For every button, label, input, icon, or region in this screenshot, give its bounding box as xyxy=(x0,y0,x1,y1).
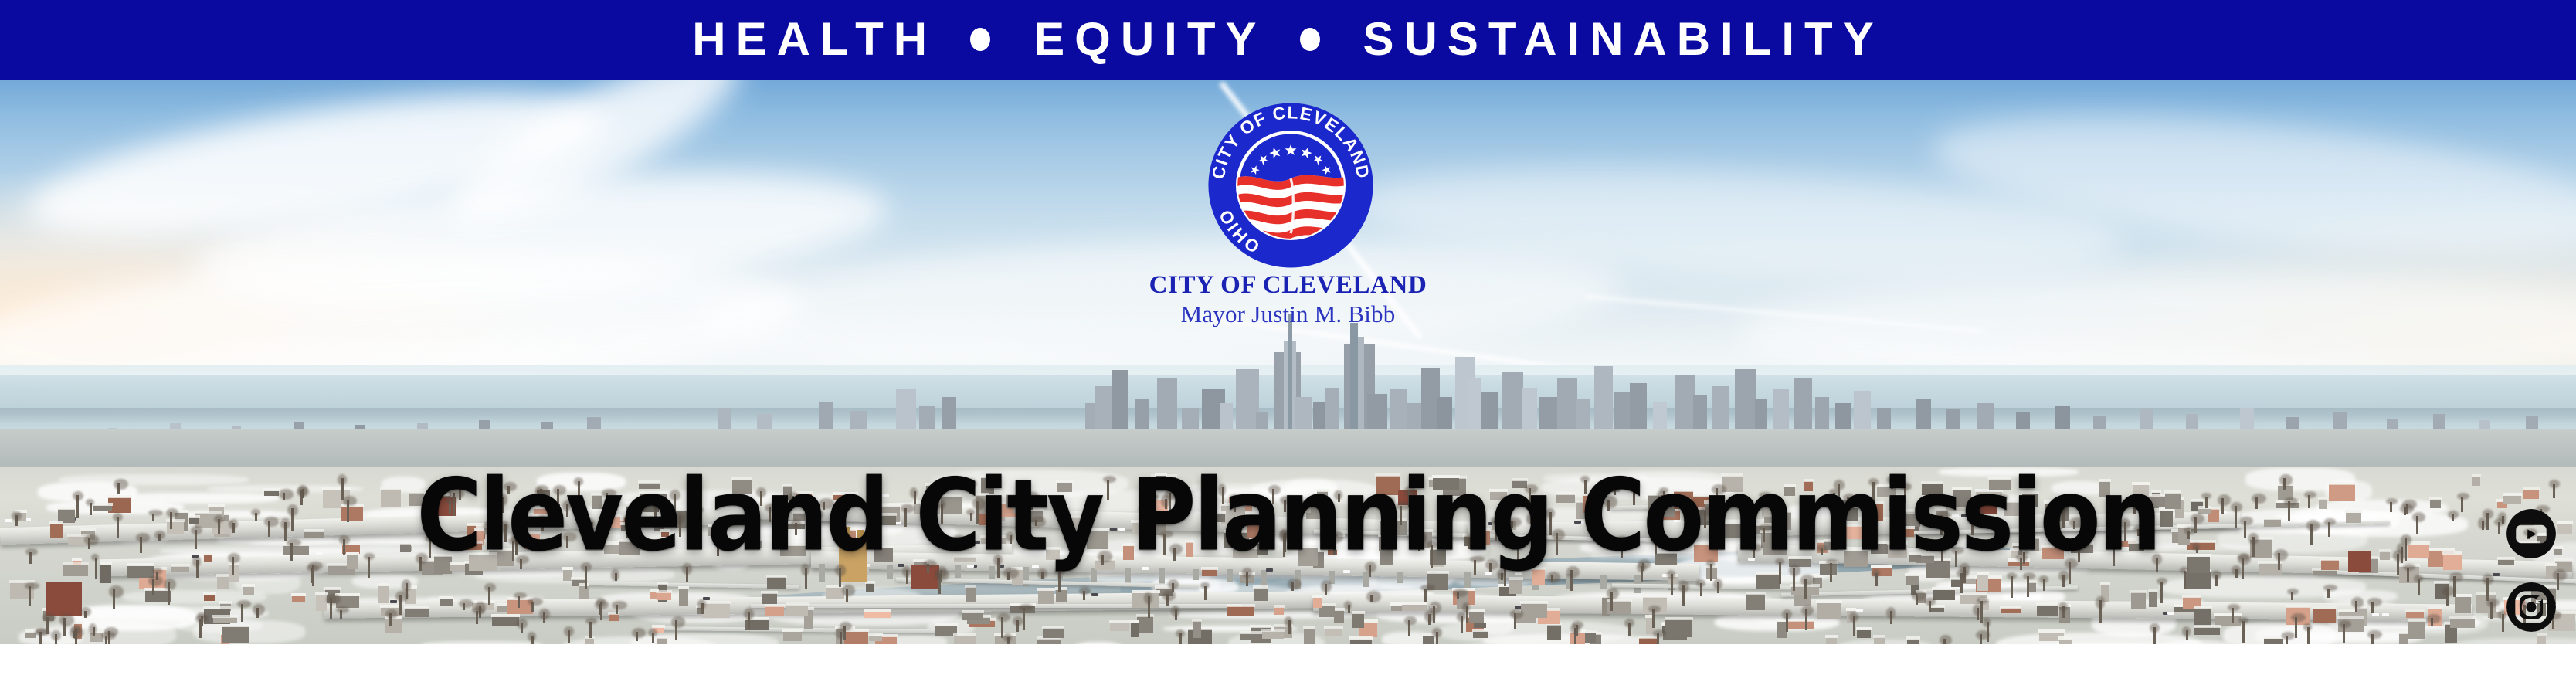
bare-tree-canopy xyxy=(1653,629,1667,637)
bare-tree-canopy xyxy=(1801,606,1814,616)
bare-tree-canopy xyxy=(1168,579,1179,589)
terminal-tower-spire xyxy=(1288,314,1292,443)
brick-building xyxy=(46,582,82,616)
bare-tree-canopy xyxy=(197,612,206,620)
bare-tree-canopy xyxy=(2096,596,2104,608)
building xyxy=(1254,588,1268,600)
snow-roof xyxy=(1253,585,1268,589)
bare-tree xyxy=(2011,576,2013,599)
snow-roof xyxy=(2148,589,2159,592)
snow-roof xyxy=(962,610,984,613)
bare-tree-canopy xyxy=(2150,623,2159,633)
building xyxy=(1639,638,1659,644)
building xyxy=(869,636,882,641)
snow-roof xyxy=(1520,601,1548,604)
snow-roof xyxy=(2194,625,2221,628)
snow-roof xyxy=(2428,606,2444,609)
bare-tree-canopy xyxy=(1572,621,1583,629)
bare-tree-canopy xyxy=(1624,619,1634,628)
building xyxy=(786,605,808,616)
bare-tree-canopy xyxy=(1162,590,1176,601)
snow-roof xyxy=(1042,626,1064,629)
bare-tree-canopy xyxy=(1912,591,1926,600)
bare-tree-canopy xyxy=(1849,612,1859,622)
bare-tree-canopy xyxy=(148,575,163,586)
bare-tree-canopy xyxy=(25,582,39,589)
snow-roof xyxy=(2182,595,2201,598)
snow-patch xyxy=(1996,633,2202,644)
city-of-cleveland-seal-icon: CITY OF CLEVELAND OHIO xyxy=(1205,100,1376,271)
building xyxy=(385,618,402,633)
building xyxy=(1906,575,1919,585)
building xyxy=(2131,592,2146,609)
building xyxy=(1423,636,1434,644)
vehicle xyxy=(2167,612,2174,615)
building xyxy=(1193,621,1201,639)
snow-roof xyxy=(1665,617,1693,620)
building xyxy=(657,638,667,644)
snow-roof xyxy=(1324,626,1343,629)
bare-tree-canopy xyxy=(2427,614,2441,623)
snow-roof xyxy=(2337,616,2364,619)
building xyxy=(962,612,983,621)
bare-tree-canopy xyxy=(2228,604,2239,611)
building xyxy=(2406,612,2424,618)
bare-tree-canopy xyxy=(1176,629,1185,637)
building xyxy=(1474,623,1486,628)
snow-roof xyxy=(1055,587,1067,590)
city-seal: CITY OF CLEVELAND OHIO xyxy=(1194,100,1387,291)
snow-roof xyxy=(652,625,665,628)
bare-tree-canopy xyxy=(517,619,527,629)
bare-tree-canopy xyxy=(1171,606,1179,616)
building xyxy=(767,577,787,589)
snow-roof xyxy=(935,623,957,626)
snow-roof xyxy=(2000,606,2021,609)
building xyxy=(1334,610,1344,622)
building xyxy=(1826,637,1837,644)
building xyxy=(1665,619,1692,637)
snow-roof xyxy=(1130,620,1139,623)
building xyxy=(1043,628,1064,638)
building xyxy=(171,566,190,572)
page-title: Cleveland City Planning Commission xyxy=(0,467,2576,566)
building xyxy=(2194,627,2220,635)
building xyxy=(63,565,88,576)
snow-roof xyxy=(1816,600,1842,603)
building xyxy=(1874,637,1885,644)
bare-tree-canopy xyxy=(1200,582,1209,589)
snow-roof xyxy=(1037,588,1055,591)
building xyxy=(1857,629,1870,638)
snow-roof xyxy=(1642,595,1668,598)
snow-roof xyxy=(439,596,453,599)
snow-roof xyxy=(2408,619,2426,622)
snow-roof xyxy=(965,585,976,588)
snow-roof xyxy=(953,633,976,636)
building xyxy=(2313,609,2336,623)
building xyxy=(765,606,785,616)
building xyxy=(1304,629,1315,644)
bullet-dot-icon xyxy=(970,28,990,51)
building xyxy=(316,595,326,611)
snow-roof xyxy=(242,584,255,587)
bare-tree-canopy xyxy=(1886,607,1896,619)
bare-tree-canopy xyxy=(697,599,706,609)
snow-roof xyxy=(1303,626,1315,629)
building xyxy=(2037,605,2058,616)
bare-tree-canopy xyxy=(528,632,537,641)
building xyxy=(762,593,777,604)
snow-roof xyxy=(1468,609,1485,612)
snow-roof xyxy=(2286,605,2310,608)
bare-tree-canopy xyxy=(2039,575,2048,583)
bare-tree-canopy xyxy=(596,598,606,606)
building xyxy=(609,614,619,621)
bare-tree-canopy xyxy=(2442,586,2456,597)
vehicle xyxy=(390,600,397,603)
bare-tree-canopy xyxy=(326,594,341,605)
bare-tree-canopy xyxy=(70,627,83,639)
snow-roof xyxy=(1333,608,1345,611)
bare-tree-canopy xyxy=(1288,579,1302,589)
snow-roof xyxy=(766,575,788,578)
building xyxy=(585,638,593,644)
bare-tree-canopy xyxy=(59,614,74,626)
building xyxy=(2399,633,2408,645)
bare-tree-canopy xyxy=(2232,565,2241,575)
bullet-dot-icon xyxy=(1300,28,1320,51)
snow-roof xyxy=(1250,625,1271,628)
building xyxy=(1110,623,1129,631)
snow-roof xyxy=(571,577,585,580)
building xyxy=(1131,623,1139,638)
bare-tree-canopy xyxy=(744,608,754,620)
bare-tree xyxy=(2027,576,2029,597)
building xyxy=(2001,608,2021,613)
bare-tree-canopy xyxy=(2157,578,2167,585)
snow-roof xyxy=(678,586,689,589)
vehicle xyxy=(2382,613,2389,616)
building xyxy=(866,583,875,592)
bare-tree-canopy xyxy=(1983,618,1991,627)
bare-tree-canopy xyxy=(671,616,684,628)
building xyxy=(1402,604,1427,610)
snow-roof xyxy=(1401,602,1427,605)
building xyxy=(2455,596,2471,613)
snow-roof xyxy=(1960,592,1987,595)
building xyxy=(679,589,688,606)
snow-roof xyxy=(1349,636,1373,640)
bare-tree-canopy xyxy=(1976,630,1990,640)
snow-roof xyxy=(2312,606,2337,609)
snow-roof xyxy=(1109,620,1130,623)
youtube-icon[interactable] xyxy=(2495,497,2568,570)
bare-tree-canopy xyxy=(2351,597,2364,608)
building xyxy=(292,595,305,602)
snow-roof xyxy=(2214,613,2242,616)
snow-roof xyxy=(216,574,229,577)
bare-tree-canopy xyxy=(51,630,61,640)
building xyxy=(2408,621,2425,638)
building xyxy=(1350,639,1373,644)
building xyxy=(1262,631,1284,640)
snow-roof xyxy=(1136,614,1153,617)
building xyxy=(1352,613,1364,627)
bare-tree-canopy xyxy=(842,585,855,596)
building xyxy=(1746,594,1765,610)
bare-tree-canopy xyxy=(1925,597,1935,606)
building xyxy=(217,576,229,589)
bare-tree-canopy xyxy=(89,623,97,635)
bare-tree-canopy xyxy=(1977,597,1989,604)
building xyxy=(783,631,802,640)
building xyxy=(1907,639,1920,644)
snow-roof xyxy=(1846,608,1856,611)
building xyxy=(657,592,670,600)
building xyxy=(1756,574,1779,589)
snow-roof xyxy=(657,636,667,639)
bare-tree-canopy xyxy=(101,632,115,640)
bare-tree-canopy xyxy=(2367,598,2382,606)
building xyxy=(378,585,389,604)
building xyxy=(213,617,237,624)
bare-tree-canopy xyxy=(585,618,597,624)
snow-roof xyxy=(315,592,327,595)
city-name-label: CITY OF CLEVELAND xyxy=(0,272,2576,300)
snow-roof xyxy=(291,593,306,596)
bare-tree-canopy xyxy=(395,591,409,602)
snow-roof xyxy=(2036,602,2058,606)
snow-roof xyxy=(1873,635,1885,638)
snow-roof xyxy=(826,585,845,588)
building xyxy=(1977,574,1988,591)
tagline-word-health: HEALTH xyxy=(692,16,937,63)
building xyxy=(1787,621,1814,629)
bare-tree-canopy xyxy=(253,604,265,616)
bare-tree-canopy xyxy=(2449,572,2463,582)
bare-tree-canopy xyxy=(2182,626,2191,636)
snow-roof xyxy=(73,621,83,624)
building xyxy=(1313,597,1321,608)
bare-tree-canopy xyxy=(1678,581,1690,592)
snow-roof xyxy=(2405,609,2425,612)
bare-tree-canopy xyxy=(997,613,1011,622)
snow-roof xyxy=(324,587,340,590)
snow-roof xyxy=(203,606,231,609)
snow-roof xyxy=(1352,611,1365,614)
snow-roof xyxy=(1472,629,1489,632)
bare-tree-canopy xyxy=(237,600,251,607)
bare-tree-canopy xyxy=(1344,601,1352,609)
tagline-inner: HEALTH EQUITY SUSTAINABILITY xyxy=(692,16,1883,63)
bare-tree-canopy xyxy=(164,579,177,590)
bare-tree-canopy xyxy=(1432,628,1441,638)
bare-tree-canopy xyxy=(648,629,657,636)
snow-roof xyxy=(203,592,216,595)
tagline-banner: HEALTH EQUITY SUSTAINABILITY xyxy=(0,0,2576,80)
building xyxy=(1274,607,1284,615)
bridge-pier xyxy=(1600,575,1607,589)
social-links xyxy=(2491,497,2571,644)
hero-photo: CITY OF CLEVELAND OHIO CITY OF CLEVELAND… xyxy=(0,80,2576,644)
snow-roof xyxy=(2130,590,2147,593)
building xyxy=(1227,606,1254,616)
bare-tree-canopy xyxy=(484,583,496,592)
bare-tree-canopy xyxy=(539,609,549,619)
building xyxy=(405,608,429,617)
snow-roof xyxy=(212,615,238,618)
snow-roof xyxy=(656,590,671,593)
bare-tree-canopy xyxy=(1940,635,1952,644)
bare-tree-canopy xyxy=(1404,616,1417,626)
snow-roof xyxy=(1932,587,1956,590)
bare-tree-canopy xyxy=(1648,606,1661,613)
bare-tree xyxy=(1058,572,1061,593)
building xyxy=(492,616,519,626)
bare-tree-canopy xyxy=(152,568,163,574)
bare-tree xyxy=(1023,608,1025,630)
building xyxy=(1056,589,1067,602)
bare-tree-canopy xyxy=(80,607,91,616)
snow-roof xyxy=(786,602,809,606)
bare-tree-canopy xyxy=(1429,602,1441,614)
page-root: HEALTH EQUITY SUSTAINABILITY xyxy=(0,0,2576,682)
tagline-word-equity: EQUITY xyxy=(1033,16,1266,63)
building xyxy=(864,612,891,618)
building xyxy=(2264,638,2284,644)
bare-tree-canopy xyxy=(1457,612,1466,622)
snow-roof xyxy=(1509,577,1523,580)
building xyxy=(2186,572,2211,589)
bare-tree-canopy xyxy=(336,606,349,613)
building xyxy=(1817,602,1841,619)
building xyxy=(1547,625,1561,640)
building xyxy=(1473,631,1488,638)
bare-tree-canopy xyxy=(402,579,411,592)
bare-tree-canopy xyxy=(2414,575,2423,582)
building xyxy=(1509,579,1522,594)
building xyxy=(440,599,452,606)
snow-roof xyxy=(2454,594,2472,597)
snow-roof xyxy=(1192,619,1202,622)
building xyxy=(1930,607,1945,612)
vehicle xyxy=(1091,593,1098,596)
bare-tree-canopy xyxy=(1079,587,1091,595)
snow-roof xyxy=(1274,605,1285,608)
bare-tree xyxy=(1980,601,1983,623)
bare-tree-canopy xyxy=(1510,609,1523,618)
vehicle xyxy=(2372,613,2379,616)
bottom-whitespace xyxy=(0,644,2576,682)
snow-roof xyxy=(864,609,891,612)
building xyxy=(222,626,249,643)
snow-roof xyxy=(1746,592,1766,595)
snow-roof xyxy=(2194,606,2212,609)
bare-tree-canopy xyxy=(42,613,55,621)
building xyxy=(2194,608,2211,626)
bare-tree-canopy xyxy=(1366,591,1382,602)
building xyxy=(127,565,154,578)
snow-roof xyxy=(765,604,786,607)
building xyxy=(702,603,730,618)
bare-tree-canopy xyxy=(612,601,627,609)
snow-roof xyxy=(378,583,389,586)
bare-tree-canopy xyxy=(632,628,647,638)
bare-tree xyxy=(2184,571,2186,589)
building xyxy=(954,636,975,645)
bare-tree-canopy xyxy=(1321,580,1332,592)
bare-tree-canopy xyxy=(1144,592,1152,604)
bare-tree-canopy xyxy=(109,585,124,597)
snow-roof xyxy=(761,591,778,594)
snow-roof xyxy=(2038,629,2065,633)
snow-roof xyxy=(1227,604,1255,607)
snow-roof xyxy=(1261,629,1285,632)
building xyxy=(100,565,111,584)
bare-tree-canopy xyxy=(1003,633,1012,643)
building xyxy=(1240,633,1261,641)
building xyxy=(1038,590,1054,603)
building xyxy=(1933,589,1955,601)
snow-roof xyxy=(2434,581,2449,584)
building xyxy=(1469,612,1484,623)
bare-tree-canopy xyxy=(1696,579,1705,588)
snow-roof xyxy=(1856,627,1871,630)
city-wordmark: CITY OF CLEVELAND Mayor Justin M. Bibb xyxy=(0,272,2576,329)
snow-roof xyxy=(1786,619,1814,622)
building xyxy=(1521,603,1547,618)
snow-roof xyxy=(1240,631,1262,634)
snow-roof xyxy=(2449,616,2476,619)
bare-tree xyxy=(2242,621,2245,643)
snow-roof xyxy=(2058,636,2072,640)
snow-roof xyxy=(491,614,520,617)
building xyxy=(1319,606,1335,616)
snow-roof xyxy=(404,606,429,609)
building xyxy=(826,587,844,599)
building xyxy=(2313,570,2337,575)
tagline-word-sustainability: SUSTAINABILITY xyxy=(1363,16,1884,63)
snow-roof xyxy=(2100,582,2109,585)
snow-roof xyxy=(221,624,249,627)
building xyxy=(243,586,254,596)
building xyxy=(2149,592,2158,607)
bare-tree xyxy=(589,622,592,639)
building xyxy=(1325,628,1342,636)
bare-tree-canopy xyxy=(2287,589,2298,595)
snow-roof xyxy=(1312,595,1322,598)
snow-roof xyxy=(868,633,883,636)
downtown-skyline xyxy=(0,335,2576,443)
bare-tree-canopy xyxy=(1420,585,1435,591)
snow-roof xyxy=(1825,635,1838,638)
bare-tree-canopy xyxy=(2339,620,2350,628)
mayor-name-label: Mayor Justin M. Bibb xyxy=(0,300,2576,330)
snow-roof xyxy=(1906,636,1921,640)
building xyxy=(844,631,867,644)
snow-roof xyxy=(219,601,232,604)
snow-roof xyxy=(782,629,803,632)
building xyxy=(204,595,215,600)
key-tower-crown xyxy=(1350,323,1358,443)
snow-roof xyxy=(657,582,668,585)
bare-tree-canopy xyxy=(2058,602,2068,612)
instagram-icon[interactable] xyxy=(2495,571,2568,643)
building xyxy=(966,587,976,602)
bare-tree-canopy xyxy=(564,626,573,636)
vehicle xyxy=(1856,609,1863,612)
